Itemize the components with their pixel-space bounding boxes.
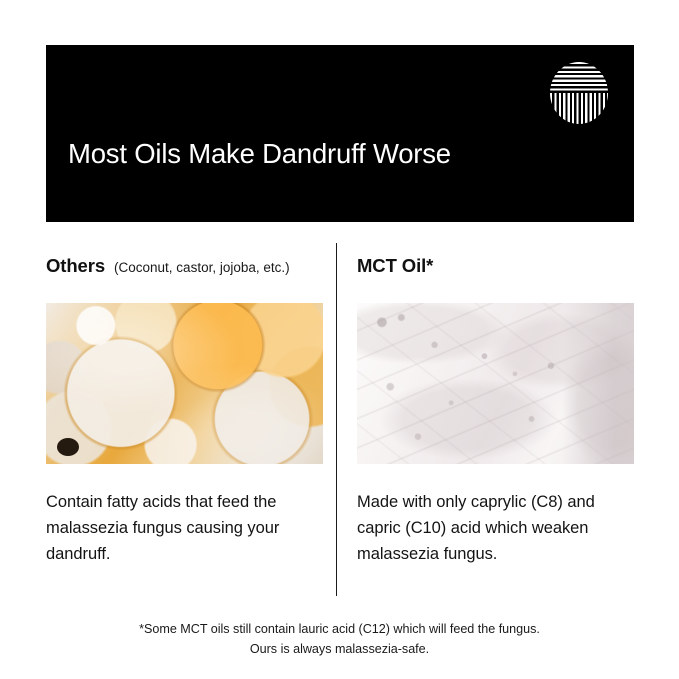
column-others: Others (Coconut, castor, jojoba, etc.) C… [46, 255, 323, 289]
column-mct-oil-body: Made with only caprylic (C8) and capric … [357, 489, 639, 567]
oil-bubbles-image [46, 303, 323, 464]
column-mct-oil-heading: MCT Oil* [357, 255, 433, 277]
hero-banner: Most Oils Make Dandruff Worse [46, 45, 634, 222]
logo-vertical-stripes [550, 93, 608, 124]
striped-circle-logo-icon [550, 62, 608, 124]
logo-horizontal-stripes [550, 62, 608, 93]
infographic-page: Most Oils Make Dandruff Worse Others (Co… [0, 0, 679, 679]
column-divider [336, 243, 337, 596]
footnote-line-2: Ours is always malassezia-safe. [0, 640, 679, 660]
column-others-header: Others (Coconut, castor, jojoba, etc.) [46, 255, 323, 289]
column-mct-oil-header: MCT Oil* [357, 255, 634, 289]
footnote: *Some MCT oils still contain lauric acid… [0, 620, 679, 659]
column-others-subheading: (Coconut, castor, jojoba, etc.) [114, 260, 290, 275]
column-others-heading: Others [46, 255, 105, 277]
oil-highlight-overlay [46, 303, 323, 464]
page-title: Most Oils Make Dandruff Worse [68, 137, 451, 171]
column-mct-oil: MCT Oil* Made with only caprylic (C8) an… [357, 255, 634, 289]
gel-edge-shadow [562, 303, 634, 464]
footnote-line-1: *Some MCT oils still contain lauric acid… [0, 620, 679, 640]
clear-gel-image [357, 303, 634, 464]
column-others-body: Contain fatty acids that feed the malass… [46, 489, 328, 567]
